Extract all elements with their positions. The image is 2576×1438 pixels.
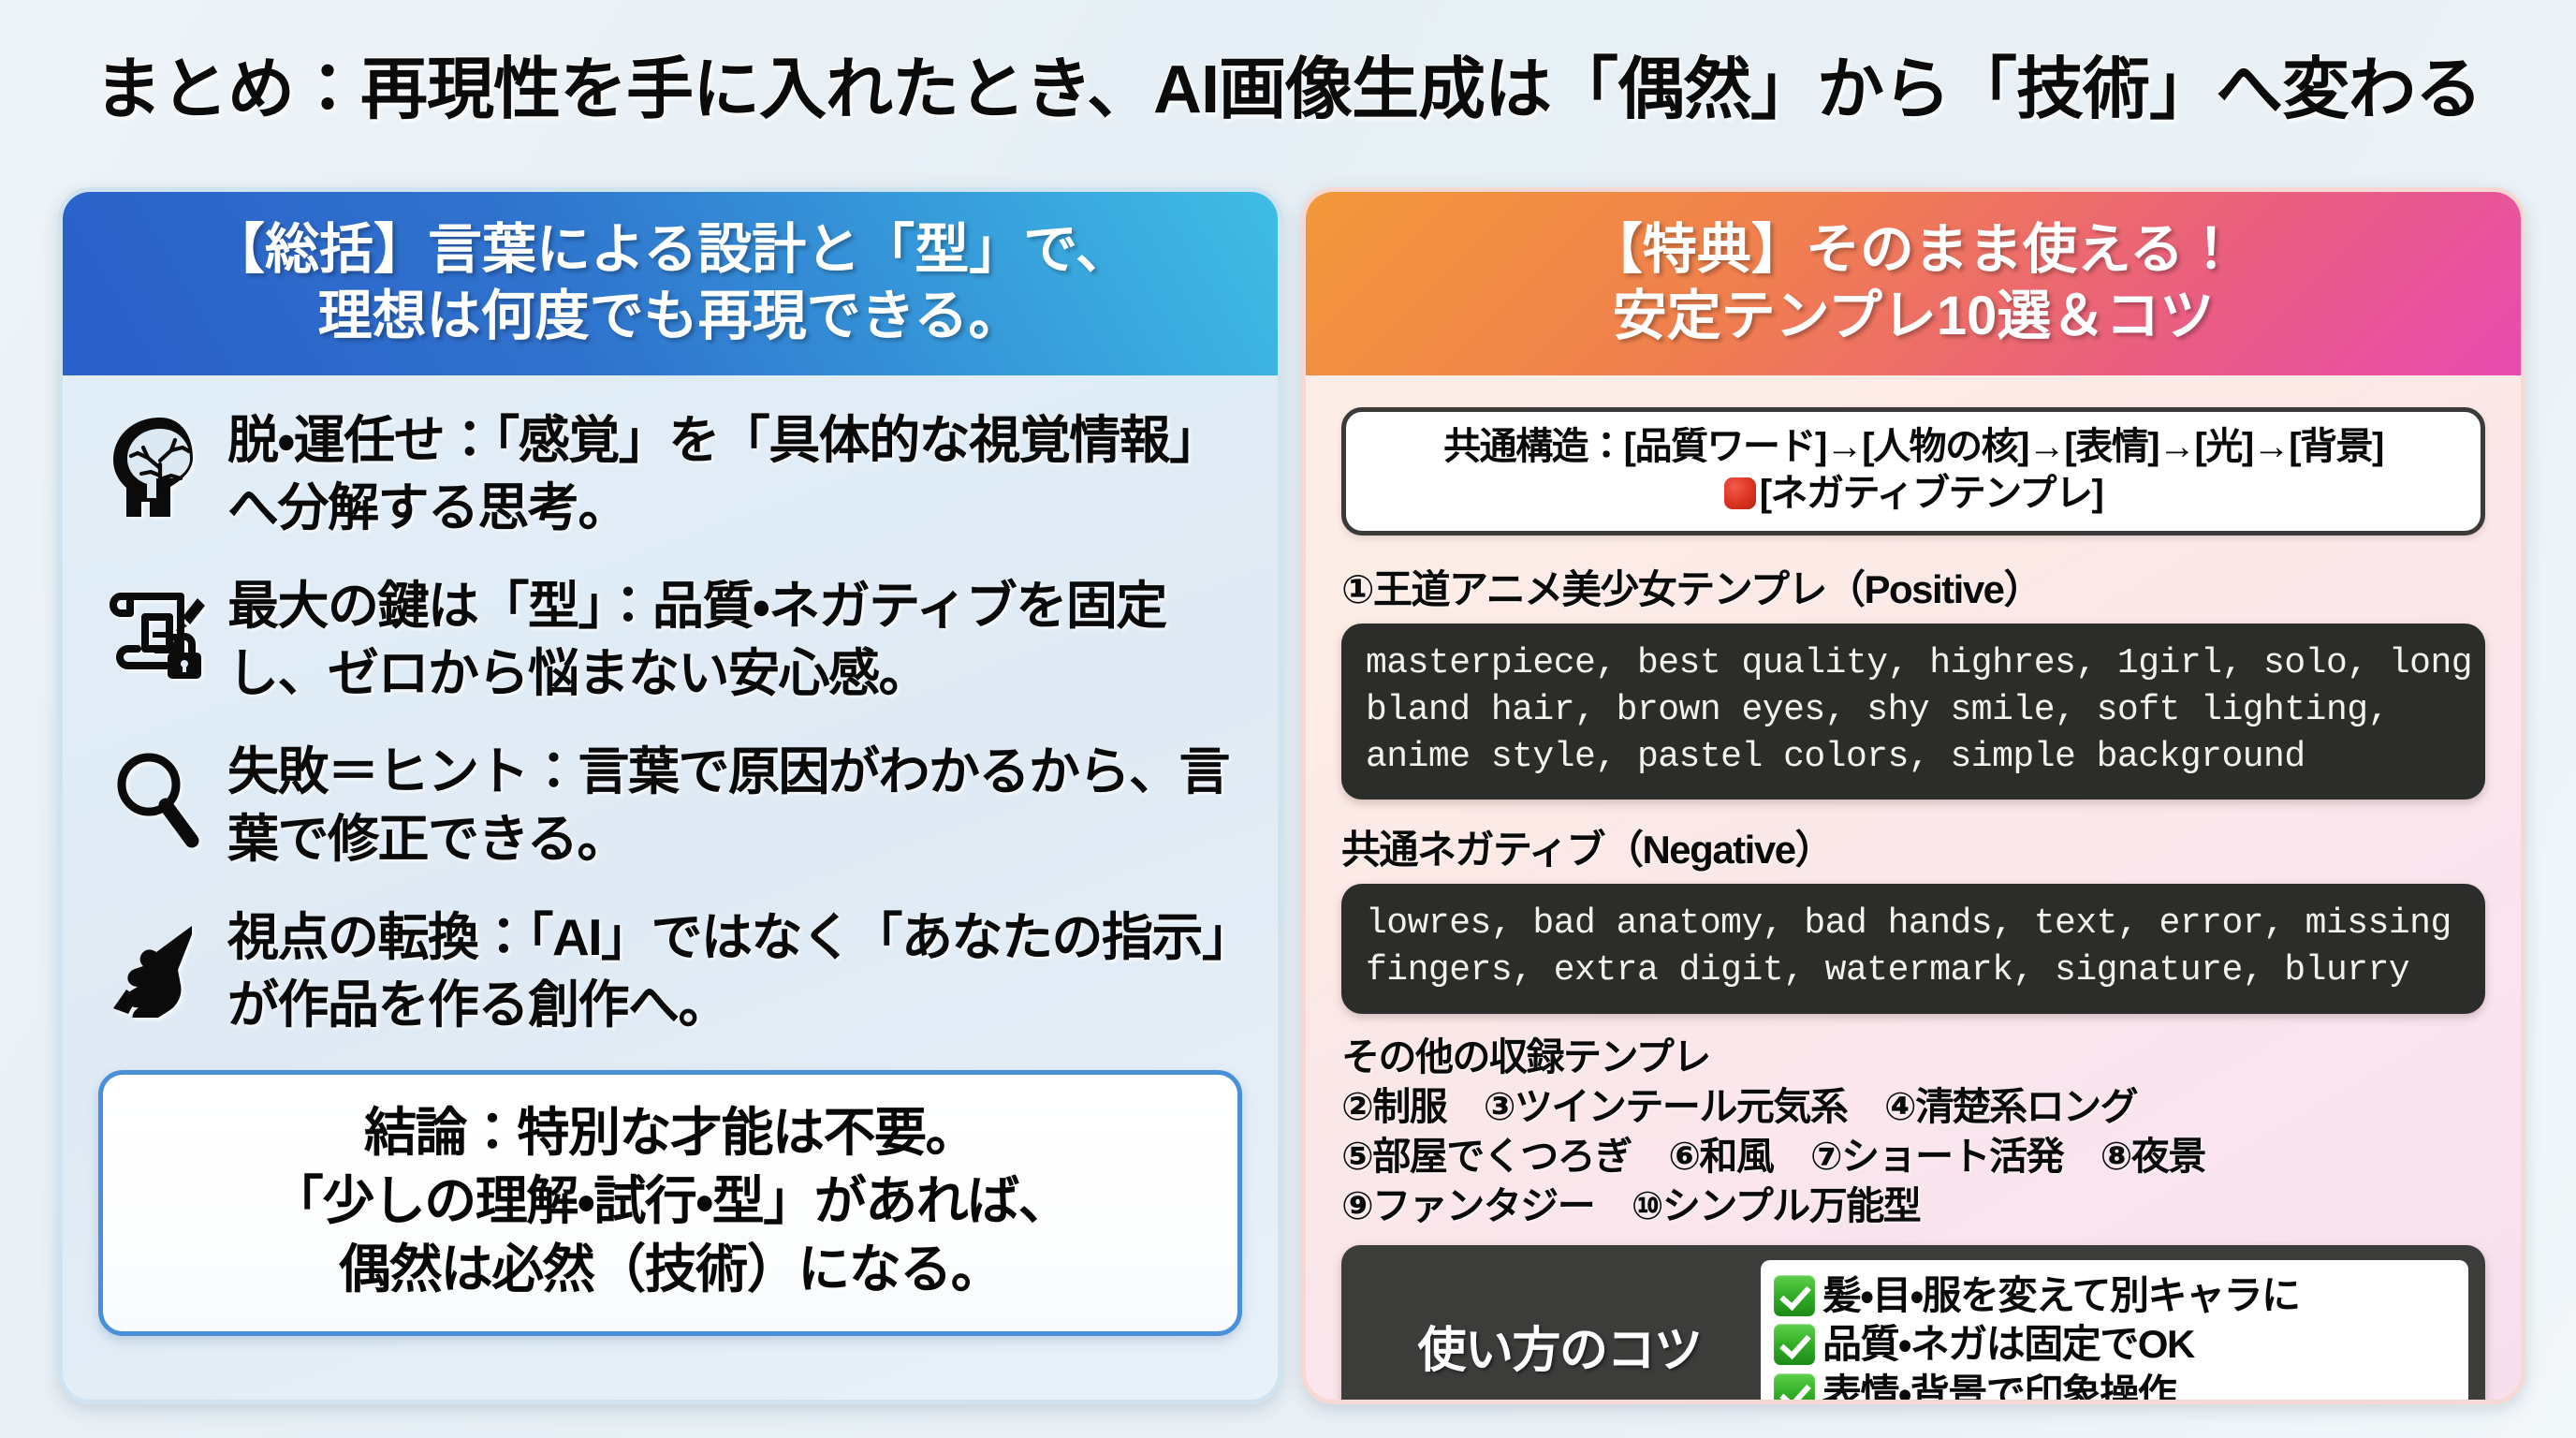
list-item-label: 失敗＝ヒント：言葉で原因がわかるから、言葉で修正できる。: [227, 739, 1242, 873]
check-icon: [1774, 1373, 1815, 1404]
positive-prompt-box[interactable]: masterpiece, best quality, highres, 1gir…: [1341, 624, 2485, 800]
other-templates-line: ⑨ファンタジー ⑩シンプル万能型: [1341, 1181, 2485, 1231]
positive-template-label: ①王道アニメ美少女テンプレ（Positive）: [1341, 558, 2485, 615]
list-item: 表情・背景で印象操作: [1774, 1371, 2455, 1404]
negative-prompt-line: fingers, extra digit, watermark, signatu…: [1366, 947, 2461, 994]
conclusion-box: 結論：特別な才能は不要。 「少しの理解・試行・型」があれば、 偶然は必然（技術）…: [98, 1070, 1242, 1336]
list-item: 失敗＝ヒント：言葉で原因がわかるから、言葉で修正できる。: [98, 739, 1242, 873]
page-title: まとめ：再現性を手に入れたとき、AI画像生成は「偶然」から「技術」へ変わる: [0, 34, 2576, 132]
other-templates-label: その他の収録テンプレ: [1341, 1033, 2485, 1082]
structure-line1: 共通構造：[品質ワード]→[人物の核]→[表情]→[光]→[背景]: [1361, 423, 2466, 470]
structure-line2: [ネガティブテンプレ]: [1760, 473, 2103, 514]
positive-prompt-line: bland hair, brown eyes, shy smile, soft …: [1366, 687, 2461, 734]
positive-prompt-line: masterpiece, best quality, highres, 1gir…: [1366, 640, 2461, 687]
list-item-label: 表情・背景で印象操作: [1822, 1371, 2175, 1404]
list-item: 最大の鍵は「型」：品質・ネガティブを固定し、ゼロから悩まない安心感。: [98, 573, 1242, 707]
negative-prompt-line: lowres, bad anatomy, bad hands, text, er…: [1366, 901, 2461, 947]
negative-template-label: 共通ネガティブ（Negative）: [1341, 818, 2485, 875]
summary-bullet-list: 脱・運任せ：「感覚」を「具体的な視覚情報」へ分解する思考。: [98, 407, 1242, 1038]
positive-prompt-line: anime style, pastel colors, simple backg…: [1366, 734, 2461, 781]
summary-card-header: 【総括】言葉による設計と「型」で、 理想は何度でも再現できる。: [63, 192, 1278, 375]
slide-root: まとめ：再現性を手に入れたとき、AI画像生成は「偶然」から「技術」へ変わる 【総…: [0, 0, 2576, 1438]
list-item: 視点の転換：「AI」ではなく「あなたの指示」が作品を作る創作へ。: [98, 904, 1242, 1038]
list-item-label: 視点の転換：「AI」ではなく「あなたの指示」が作品を作る創作へ。: [227, 904, 1242, 1038]
conclusion-line2: 「少しの理解・試行・型」があれば、: [122, 1167, 1219, 1236]
conclusion-line3: 偶然は必然（技術）になる。: [122, 1236, 1219, 1304]
usage-tips-panel: 髪・目・服を変えて別キャラに 品質・ネガは固定でOK 表情・背景で印象操作: [1761, 1260, 2468, 1404]
negative-prompt-box[interactable]: lowres, bad anatomy, bad hands, text, er…: [1341, 884, 2485, 1013]
summary-header-line1: 【総括】言葉による設計と「型」で、: [211, 217, 1130, 284]
bonus-card: 【特典】そのまま使える！ 安定テンプレ10選＆コツ 共通構造：[品質ワード]→[…: [1301, 187, 2525, 1404]
list-item-label: 品質・ネガは固定でOK: [1822, 1321, 2194, 1368]
bonus-card-header: 【特典】そのまま使える！ 安定テンプレ10選＆コツ: [1306, 192, 2521, 375]
check-icon: [1774, 1324, 1815, 1365]
bonus-card-body: 共通構造：[品質ワード]→[人物の核]→[表情]→[光]→[背景] [ネガティブ…: [1306, 375, 2521, 1404]
usage-tips-box: 使い方のコツ 髪・目・服を変えて別キャラに 品質・ネガは固定でOK 表情・背景で…: [1341, 1245, 2485, 1404]
usage-tips-title: 使い方のコツ: [1358, 1311, 1761, 1381]
list-item-label: 脱・運任せ：「感覚」を「具体的な視覚情報」へ分解する思考。: [227, 407, 1242, 541]
list-item: 品質・ネガは固定でOK: [1774, 1321, 2455, 1368]
brain-head-icon: [98, 411, 216, 523]
other-templates-line: ②制服 ③ツインテール元気系 ④清楚系ロング: [1341, 1082, 2485, 1132]
list-item-label: 髪・目・服を変えて別キャラに: [1822, 1272, 2299, 1319]
red-stop-icon: [1724, 477, 1756, 509]
magnifier-icon: [98, 742, 216, 855]
summary-card: 【総括】言葉による設計と「型」で、 理想は何度でも再現できる。: [58, 187, 1282, 1404]
blueprint-lock-icon: [98, 577, 216, 689]
common-structure-box: 共通構造：[品質ワード]→[人物の核]→[表情]→[光]→[背景] [ネガティブ…: [1341, 407, 2485, 536]
other-templates-line: ⑤部屋でくつろぎ ⑥和風 ⑦ショート活発 ⑧夜景: [1341, 1132, 2485, 1181]
list-item: 脱・運任せ：「感覚」を「具体的な視覚情報」へ分解する思考。: [98, 407, 1242, 541]
summary-card-body: 脱・運任せ：「感覚」を「具体的な視覚情報」へ分解する思考。: [63, 375, 1278, 1362]
summary-header-line2: 理想は何度でも再現できる。: [211, 284, 1130, 350]
pointing-hand-icon: [98, 908, 216, 1020]
list-item-label: 最大の鍵は「型」：品質・ネガティブを固定し、ゼロから悩まない安心感。: [227, 573, 1242, 707]
check-icon: [1774, 1275, 1815, 1316]
conclusion-line1: 結論：特別な才能は不要。: [122, 1099, 1219, 1167]
bonus-header-line2: 安定テンプレ10選＆コツ: [1588, 284, 2238, 350]
structure-line2-wrap: [ネガティブテンプレ]: [1361, 470, 2466, 517]
list-item: 髪・目・服を変えて別キャラに: [1774, 1272, 2455, 1319]
bonus-header-line1: 【特典】そのまま使える！: [1588, 217, 2238, 284]
